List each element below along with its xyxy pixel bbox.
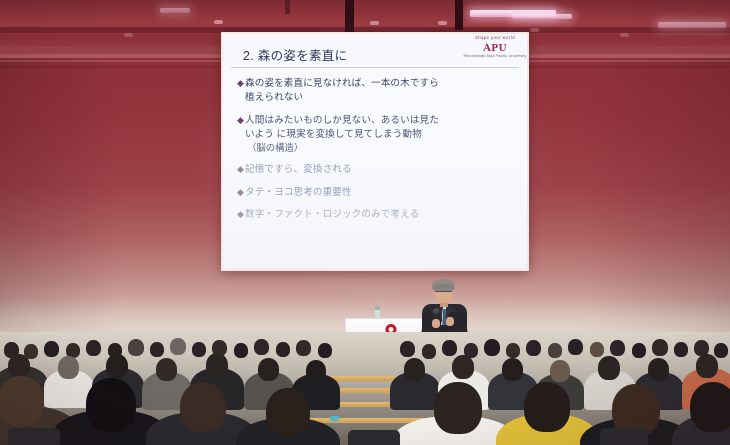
lecture-hall-photo: Shape your world APU Ritsumeikan Asia Pa… <box>0 0 730 445</box>
audience-head <box>690 382 730 432</box>
audience-head <box>306 360 326 382</box>
apu-logo: Shape your world APU Ritsumeikan Asia Pa… <box>471 38 519 58</box>
slide-bullet-text: 数字・ファクト・ロジックのみで考える <box>245 208 419 222</box>
ceiling-fixture <box>530 28 539 32</box>
slide-surface: Shape your world APU Ritsumeikan Asia Pa… <box>223 34 527 269</box>
ceiling-fixture <box>620 33 629 37</box>
speaker-glasses-icon <box>435 291 452 295</box>
speaker-hand <box>432 319 440 328</box>
slide-bullet-text: タテ・ヨコ思考の重要性 <box>245 186 352 200</box>
audience-head <box>598 356 620 380</box>
slide-bullet: ◆ 数字・ファクト・ロジックのみで考える <box>237 208 517 222</box>
audience-head <box>192 342 206 357</box>
audience-head <box>484 339 500 356</box>
presentation-slide: Shape your world APU Ritsumeikan Asia Pa… <box>223 34 527 269</box>
diamond-bullet-icon: ◆ <box>237 77 244 91</box>
audience-head <box>254 339 269 355</box>
audience-head <box>0 376 44 426</box>
diamond-bullet-icon: ◆ <box>237 208 244 222</box>
ceiling-fixture <box>370 21 379 25</box>
audience-head <box>86 340 101 356</box>
audience-head <box>276 342 290 357</box>
audience-head <box>568 339 583 355</box>
audience-phone <box>330 416 339 421</box>
audience-head <box>58 356 79 379</box>
audience-head <box>590 342 604 357</box>
audience-head <box>206 353 228 378</box>
diamond-bullet-icon: ◆ <box>237 186 244 200</box>
audience-head <box>696 354 718 378</box>
audience-head <box>442 340 457 356</box>
audience-head <box>266 388 310 436</box>
audience-head <box>526 340 541 356</box>
audience-head <box>296 340 311 356</box>
audience-head <box>652 339 668 356</box>
slide-bullet: ◆ 人間はみたいものしか見ない、あるいは見た いよう に現実を変換して見てしまう… <box>237 114 517 142</box>
audience-head <box>434 382 482 434</box>
ceiling-slot <box>285 0 290 14</box>
apu-wordmark: APU <box>471 43 519 54</box>
slide-bullet-list: ◆ 森の姿を素直に見なければ、一本の木ですら 植えられない ◆ 人間はみたいもの… <box>237 77 517 222</box>
projection-screen: Shape your world APU Ritsumeikan Asia Pa… <box>221 32 529 271</box>
audience-head <box>44 341 59 357</box>
audience-head <box>258 358 279 381</box>
audience-head <box>422 344 436 359</box>
audience-head <box>404 358 425 381</box>
audience-head <box>648 358 669 381</box>
ceiling-light-strip <box>512 14 572 19</box>
audience-chair <box>600 428 648 445</box>
audience-head <box>610 340 625 356</box>
audience-head <box>400 341 415 357</box>
ceiling-slot <box>455 0 463 30</box>
audience-head <box>632 343 646 358</box>
speaker-hand <box>446 317 454 326</box>
audience-head <box>128 339 144 356</box>
apu-tagline: Shape your world <box>457 37 527 41</box>
audience-head <box>86 378 136 432</box>
slide-title-divider <box>231 67 519 68</box>
audience-head <box>180 382 226 432</box>
slide-bullet-text: 森の姿を素直に見なければ、一本の木ですら 植えられない <box>245 77 439 105</box>
audience-head <box>150 342 164 357</box>
ceiling-fixture <box>124 33 133 37</box>
audience-head <box>234 343 248 358</box>
diamond-bullet-icon: ◆ <box>237 163 244 177</box>
ceiling-light-strip <box>658 22 726 28</box>
audience-head <box>550 360 570 382</box>
audience-head <box>452 355 474 379</box>
ceiling-fixture <box>438 21 447 25</box>
ceiling-fixture <box>214 20 223 24</box>
audience-chair <box>8 428 60 445</box>
audience-head <box>156 358 177 381</box>
audience-area <box>0 332 730 445</box>
slide-bullet: ◆ 記憶ですら、変換される <box>237 163 517 177</box>
slide-bullet: ◆ 森の姿を素直に見なければ、一本の木ですら 植えられない <box>237 77 517 105</box>
audience-head <box>106 354 128 378</box>
ceiling-light-strip <box>160 8 190 13</box>
apu-university-name: Ritsumeikan Asia Pacific University <box>458 55 527 59</box>
audience-head <box>170 338 186 355</box>
audience-head <box>714 343 728 358</box>
audience-head <box>524 382 570 432</box>
audience-head <box>8 354 30 378</box>
slide-bullet-text: 人間はみたいものしか見ない、あるいは見た いよう に現実を変換して見てしまう動物 <box>245 114 439 142</box>
slide-bullet-text: 記憶ですら、変換される <box>245 163 352 177</box>
ceiling-slot <box>345 0 354 32</box>
audience-head <box>318 343 332 358</box>
slide-parenthetical-note: （脳の構造） <box>247 140 517 154</box>
slide-bullet: ◆ タテ・ヨコ思考の重要性 <box>237 186 517 200</box>
audience-chair <box>348 430 400 445</box>
diamond-bullet-icon: ◆ <box>237 114 244 128</box>
audience-head <box>548 343 562 358</box>
audience-head <box>674 342 688 357</box>
audience-head <box>506 343 520 358</box>
audience-head <box>502 358 523 381</box>
